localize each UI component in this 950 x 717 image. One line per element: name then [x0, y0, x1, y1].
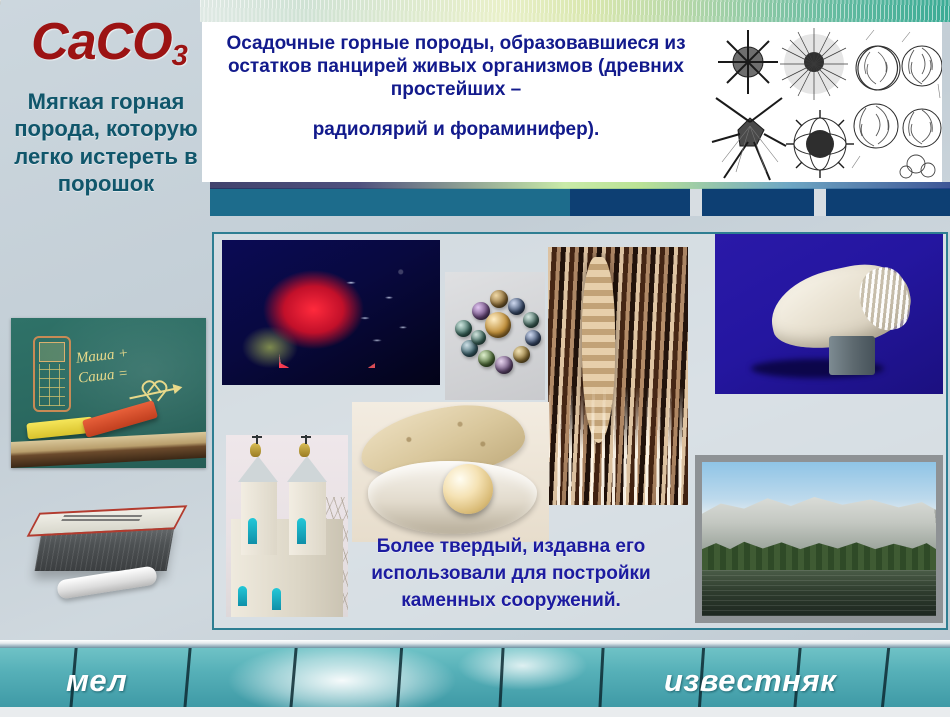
church-cross-left-icon — [256, 435, 258, 444]
eraser-label — [61, 514, 143, 521]
church-dome-left — [250, 443, 261, 457]
golden-pearl — [443, 464, 493, 514]
radiolarian-hairy-2 — [780, 28, 848, 100]
church-roof-left — [238, 456, 278, 482]
pearl — [455, 320, 472, 337]
glass-mullion — [880, 648, 892, 707]
banner-label-mel: мел — [66, 663, 127, 699]
foraminifera-cluster-5 — [900, 155, 935, 178]
foraminifera-spiral-3 — [854, 104, 898, 148]
church-window — [297, 518, 306, 544]
banner-label-izvestnyak: известняк — [664, 663, 836, 699]
church-photo — [226, 435, 348, 617]
radiolarian-spined-3 — [712, 98, 786, 180]
pearl — [525, 330, 541, 346]
top-green-ribbon — [200, 0, 950, 22]
pearl — [471, 330, 486, 345]
foraminifera-spiral-2 — [902, 46, 942, 86]
red-chalk-stick — [82, 400, 158, 438]
stalactite-cave-photo — [548, 247, 688, 505]
stalagmite-column — [582, 257, 616, 443]
radiolarian-caged-4 — [786, 110, 854, 178]
formula-subscript: 3 — [172, 40, 187, 72]
banner-bottom-separator — [0, 707, 950, 717]
chalk-drawing-phone-icon — [33, 336, 71, 412]
glass-mullion — [598, 648, 605, 707]
glass-mullion — [395, 648, 404, 707]
pearl — [478, 350, 495, 367]
left-caption-text: Мягкая горная порода, которую легко исте… — [8, 88, 204, 197]
bar-segment-navy-3 — [826, 188, 950, 216]
church-tower-left — [241, 482, 278, 555]
landscape-river — [702, 570, 936, 616]
church-window — [272, 588, 281, 610]
microfossil-plate-illustration — [710, 22, 942, 182]
church-tower-right — [289, 482, 326, 555]
pearl — [523, 312, 539, 328]
glass-mullion — [498, 648, 505, 707]
church-cross-right-icon — [305, 435, 307, 444]
pearl — [490, 290, 508, 308]
pearl — [513, 346, 530, 363]
chalk-drawing-heart-icon — [143, 380, 165, 400]
header-paragraph-2: радиолярий и фораминифер). — [212, 118, 700, 141]
formula-text: CaCO — [31, 13, 171, 71]
pearl — [508, 298, 525, 315]
pearl — [495, 356, 513, 374]
church-roof-right — [287, 456, 327, 482]
blackboard-eraser-photo — [11, 495, 206, 625]
church-window — [248, 518, 257, 544]
sculpture-pedestal — [829, 336, 875, 374]
church-dome-right — [299, 443, 310, 457]
chalkboard-with-chalk-photo: Маша +Саша = — [11, 318, 206, 468]
slide-canvas: CaCO3 Мягкая горная порода, которую легк… — [0, 0, 950, 717]
bar-segment-teal — [210, 188, 570, 216]
oyster-with-pearl-photo — [352, 402, 549, 542]
radiolarian-spiky-1 — [718, 30, 778, 94]
bottom-caption-text: Более твердый, издавна его использовали … — [336, 534, 686, 615]
bar-segment-navy-2 — [702, 188, 814, 216]
header-text-box: Осадочные горные породы, образовавшиеся … — [202, 22, 710, 182]
page-title-formula: CaCO3 — [14, 16, 204, 68]
marble-sculpture-photo — [715, 234, 943, 394]
bar-gap-2 — [814, 188, 826, 216]
foraminifera-spiral-4 — [903, 109, 941, 147]
banner-top-separator — [0, 640, 950, 648]
glass-mullion — [182, 648, 192, 707]
decorative-segmented-bar — [210, 188, 950, 216]
chalk-drawing-text: Маша +Саша = — [75, 343, 131, 389]
bar-gap-1 — [690, 188, 702, 216]
foraminifera-spiral-1 — [856, 46, 900, 90]
glass-mullion — [288, 648, 298, 707]
pearls-photo — [445, 272, 545, 400]
church-window — [238, 586, 247, 606]
limestone-cliffs-photo — [695, 455, 943, 623]
bar-segment-navy-1 — [570, 188, 690, 216]
pearl-large — [485, 312, 511, 338]
header-paragraph-1: Осадочные горные породы, образовавшиеся … — [212, 32, 700, 102]
red-coral-photo — [222, 240, 440, 385]
